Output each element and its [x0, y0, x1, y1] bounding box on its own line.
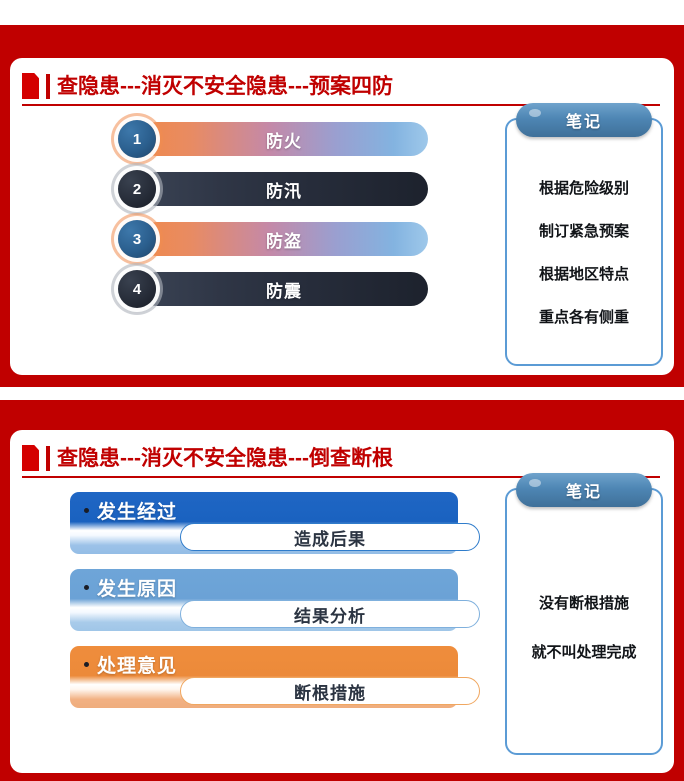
- note-line: 制订紧急预案: [539, 220, 629, 241]
- title-divider-bar: [46, 446, 50, 471]
- slide-2-card: 查隐患---消灭不安全隐患---倒查断根 发生经过 造成后果: [10, 430, 674, 773]
- bar-label: 防火: [266, 127, 302, 152]
- title-divider-bar: [46, 74, 50, 99]
- numbered-bar-row[interactable]: 防汛 2: [118, 172, 428, 206]
- bar-number-badge: 3: [118, 220, 156, 258]
- bar-label: 防汛: [266, 177, 302, 202]
- bar-body[interactable]: 防火: [140, 122, 428, 156]
- slide-2-block-list: 发生经过 造成后果 发生原因 结果分析: [70, 492, 480, 708]
- slide-1-note-panel: 笔记 根据危险级别 制订紧急预案 根据地区特点 重点各有侧重: [505, 118, 663, 366]
- note-line: 根据危险级别: [539, 177, 629, 198]
- process-block-heading: 发生原因: [84, 574, 177, 601]
- note-panel-body: 没有断根措施 就不叫处理完成: [507, 524, 661, 753]
- process-block-pill-label: 造成后果: [294, 525, 366, 550]
- note-panel-header: 笔记: [516, 473, 652, 507]
- note-line: 没有断根措施: [539, 592, 629, 613]
- process-block[interactable]: 处理意见 断根措施: [70, 646, 480, 708]
- slide-2: 查隐患---消灭不安全隐患---倒查断根 发生经过 造成后果: [0, 400, 684, 781]
- slide-1-title: 查隐患---消灭不安全隐患---预案四防: [57, 76, 393, 97]
- bullet-dot-icon: [84, 662, 89, 667]
- note-line: 根据地区特点: [539, 263, 629, 284]
- bullet-dot-icon: [84, 508, 89, 513]
- bar-body[interactable]: 防震: [140, 272, 428, 306]
- red-flag-icon: [22, 73, 39, 99]
- slide-1: 查隐患---消灭不安全隐患---预案四防 防火 1 防汛 2: [0, 25, 684, 387]
- bar-number-badge: 4: [118, 270, 156, 308]
- process-block-heading-label: 发生原因: [97, 574, 177, 601]
- bar-body[interactable]: 防汛: [140, 172, 428, 206]
- numbered-bar-row[interactable]: 防火 1: [118, 122, 428, 156]
- slide-deck-page: 查隐患---消灭不安全隐患---预案四防 防火 1 防汛 2: [0, 0, 684, 781]
- note-line: 重点各有侧重: [539, 306, 629, 327]
- slide-1-bar-list: 防火 1 防汛 2 防盗 3: [118, 122, 428, 306]
- process-block-pill[interactable]: 断根措施: [180, 677, 480, 705]
- process-block[interactable]: 发生原因 结果分析: [70, 569, 480, 631]
- note-panel-header-label: 笔记: [566, 108, 602, 132]
- process-block-pill[interactable]: 造成后果: [180, 523, 480, 551]
- red-flag-icon: [22, 445, 39, 471]
- process-block-pill-label: 结果分析: [294, 602, 366, 627]
- slide-2-title: 查隐患---消灭不安全隐患---倒查断根: [57, 448, 393, 469]
- note-panel-header: 笔记: [516, 103, 652, 137]
- process-block-heading: 处理意见: [84, 651, 177, 678]
- bar-label: 防盗: [266, 227, 302, 252]
- note-panel-header-label: 笔记: [566, 478, 602, 502]
- slide-2-note-panel: 笔记 没有断根措施 就不叫处理完成: [505, 488, 663, 755]
- bar-body[interactable]: 防盗: [140, 222, 428, 256]
- note-panel-body: 根据危险级别 制订紧急预案 根据地区特点 重点各有侧重: [507, 154, 661, 364]
- bullet-dot-icon: [84, 585, 89, 590]
- bar-number-badge: 2: [118, 170, 156, 208]
- slide-1-title-row: 查隐患---消灭不安全隐患---预案四防: [22, 68, 660, 106]
- process-block-heading: 发生经过: [84, 497, 177, 524]
- note-line: 就不叫处理完成: [531, 641, 636, 662]
- numbered-bar-row[interactable]: 防盗 3: [118, 222, 428, 256]
- process-block[interactable]: 发生经过 造成后果: [70, 492, 480, 554]
- process-block-heading-label: 处理意见: [97, 651, 177, 678]
- numbered-bar-row[interactable]: 防震 4: [118, 272, 428, 306]
- process-block-pill[interactable]: 结果分析: [180, 600, 480, 628]
- bar-number-badge: 1: [118, 120, 156, 158]
- bar-label: 防震: [266, 277, 302, 302]
- process-block-pill-label: 断根措施: [294, 679, 366, 704]
- slide-1-card: 查隐患---消灭不安全隐患---预案四防 防火 1 防汛 2: [10, 58, 674, 375]
- process-block-heading-label: 发生经过: [97, 497, 177, 524]
